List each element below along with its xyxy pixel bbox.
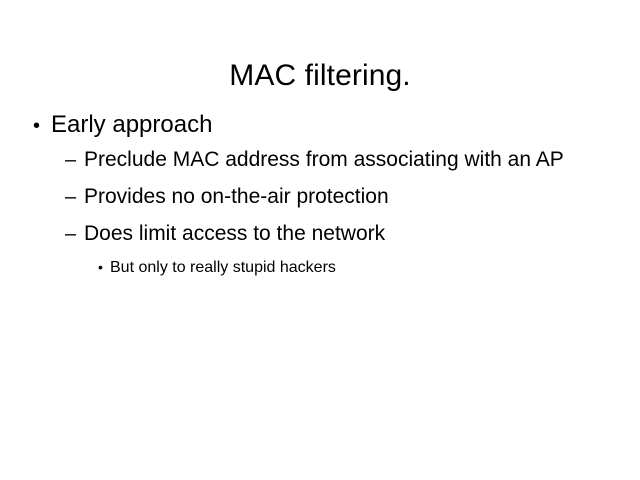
list-item: – Preclude MAC address from associating … [0, 141, 640, 178]
list-item: – Provides no on-the-air protection [0, 178, 640, 215]
page-title: MAC filtering. [0, 58, 640, 94]
bullet-disc-icon: • [98, 253, 110, 281]
slide-content-outline: • Early approach – Preclude MAC address … [0, 108, 640, 281]
list-item-label: Early approach [51, 108, 212, 141]
list-item-label: Provides no on-the-air protection [84, 178, 389, 215]
list-item: • But only to really stupid hackers [0, 253, 640, 281]
list-item-label: But only to really stupid hackers [110, 254, 336, 282]
list-item: • Early approach [0, 108, 640, 141]
list-item-label: Does limit access to the network [84, 215, 385, 252]
en-dash-icon: – [65, 216, 84, 253]
list-item: – Does limit access to the network [0, 215, 640, 252]
presentation-slide: MAC filtering. • Early approach – Preclu… [0, 0, 640, 480]
bullet-disc-icon: • [33, 110, 51, 143]
en-dash-icon: – [65, 142, 84, 179]
en-dash-icon: – [65, 179, 84, 216]
list-item-label: Preclude MAC address from associating wi… [84, 141, 564, 178]
